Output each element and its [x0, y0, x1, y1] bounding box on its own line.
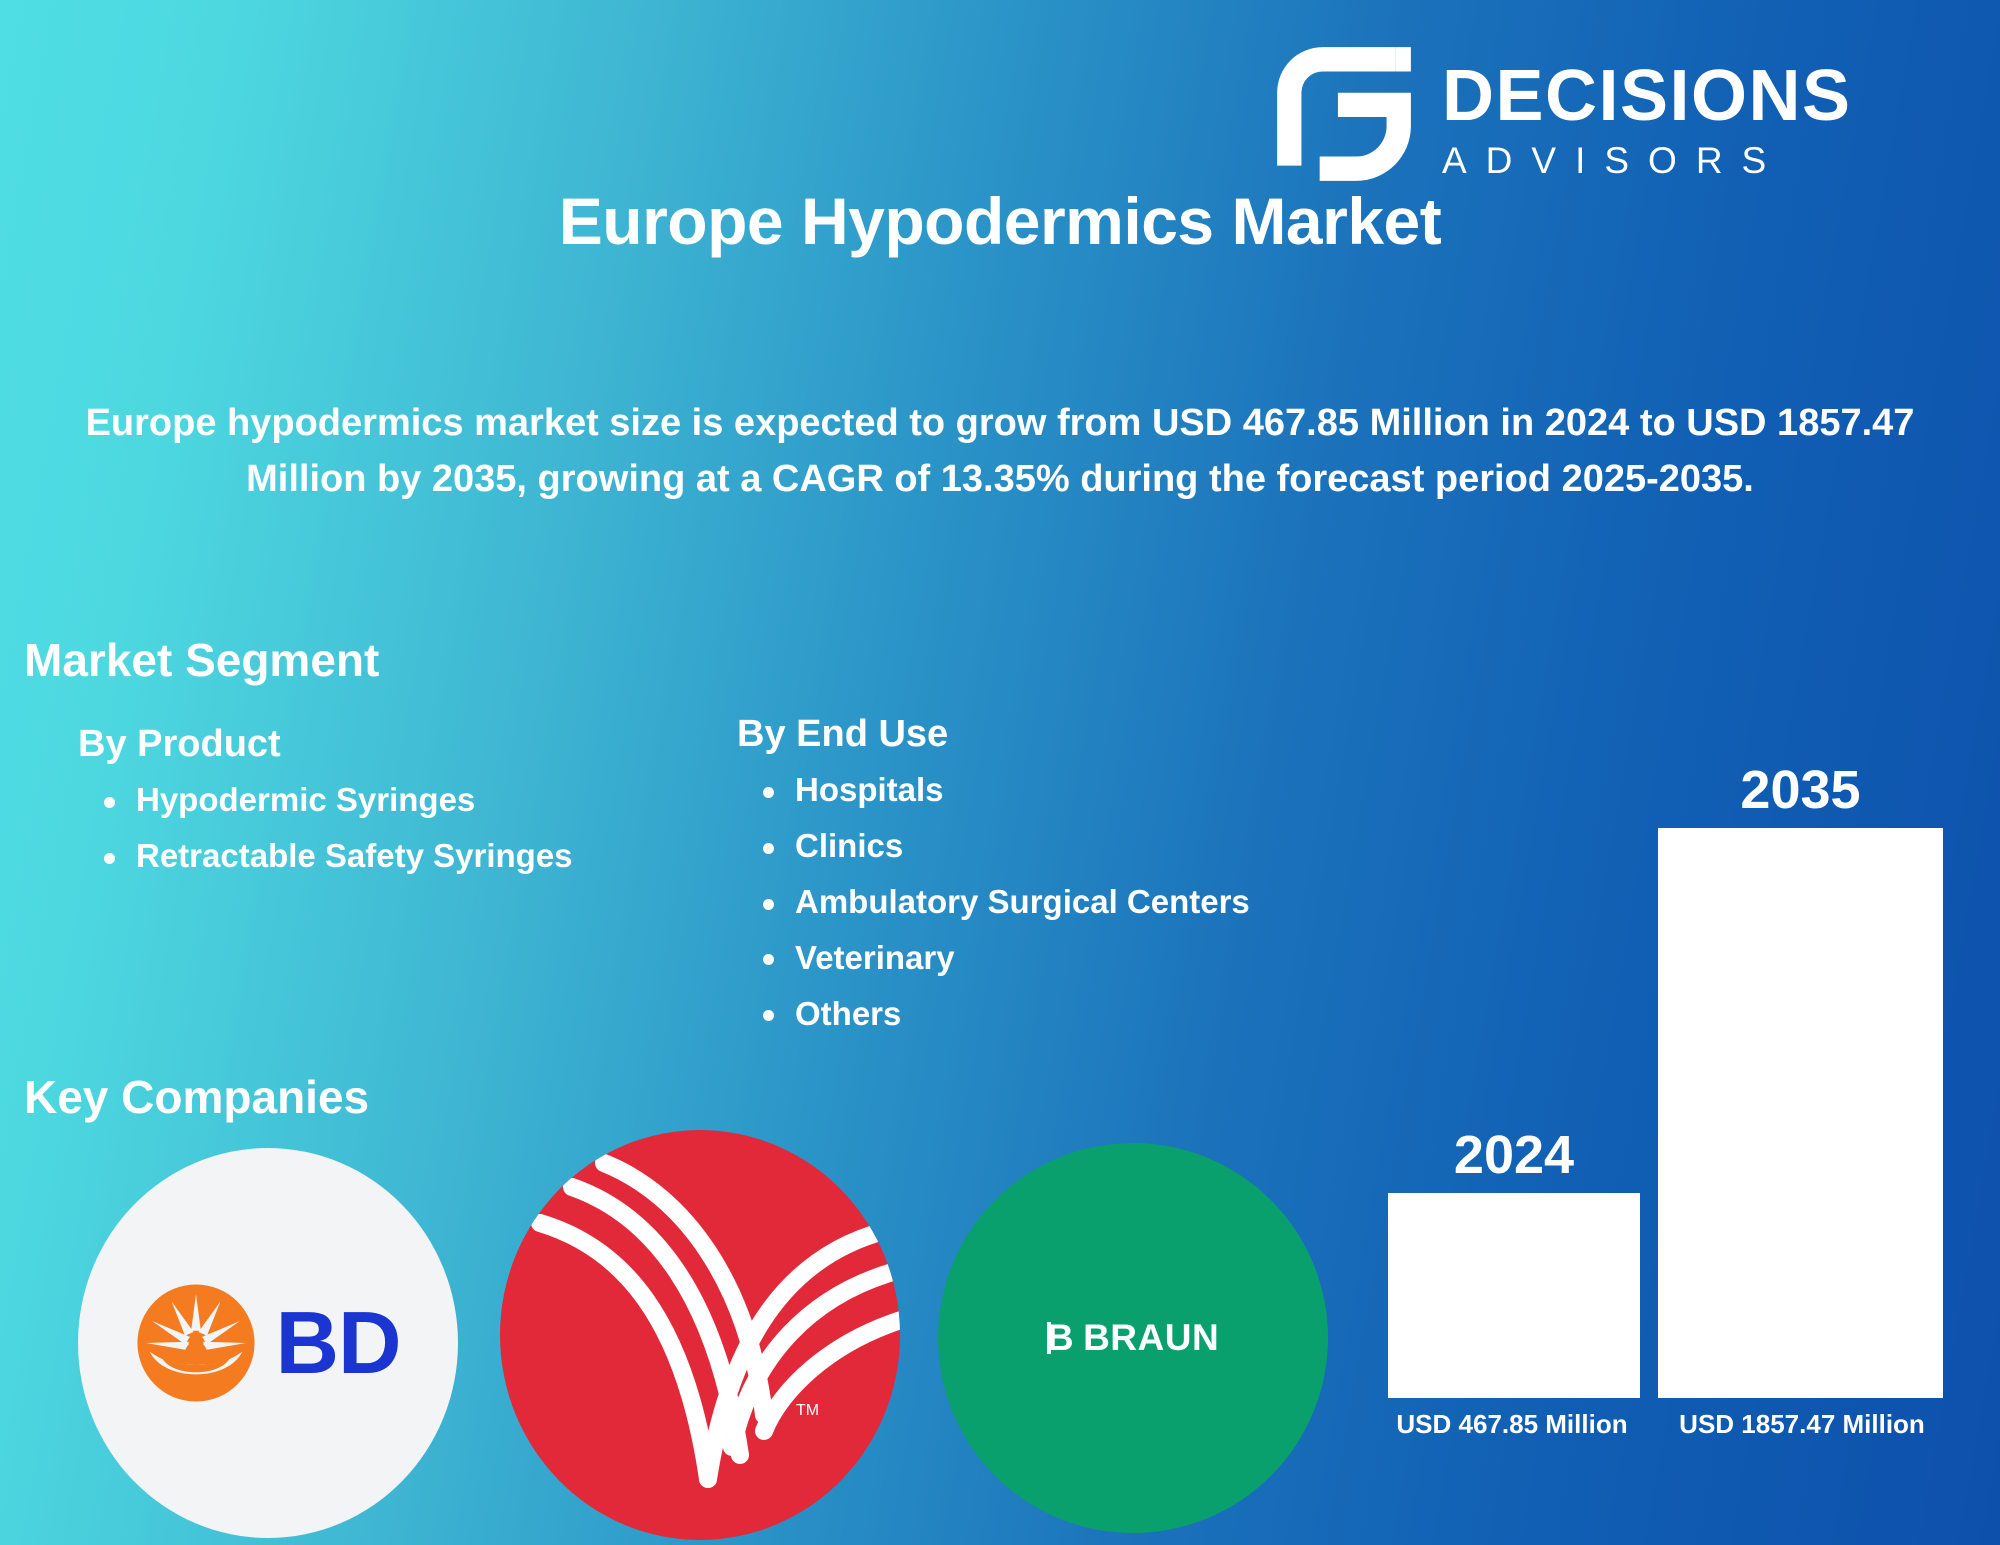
- bar-year-label-2024: 2024: [1388, 1124, 1640, 1186]
- page-title: Europe Hypodermics Market: [0, 183, 2000, 259]
- bar-2024: [1388, 1193, 1640, 1398]
- segment-column-by-product: By Product Hypodermic Syringes Retractab…: [78, 723, 573, 878]
- trademark-symbol: TM: [796, 1402, 819, 1419]
- list-item-label: Ambulatory Surgical Centers: [795, 883, 1250, 920]
- list-item: Hypodermic Syringes: [78, 779, 573, 822]
- segment-list-by-end-use: Hospitals Clinics Ambulatory Surgical Ce…: [737, 769, 1250, 1035]
- list-item-label: Hospitals: [795, 771, 944, 808]
- segment-column-title: By End Use: [737, 713, 1250, 756]
- bbraun-prefix: B: [1047, 1317, 1074, 1359]
- list-item-label: Others: [795, 995, 901, 1032]
- bbraun-wordmark-icon: B BRAUN: [1047, 1317, 1219, 1359]
- market-segment-heading: Market Segment: [24, 633, 379, 687]
- list-item-label: Retractable Safety Syringes: [136, 837, 573, 874]
- bd-sunburst-icon: [135, 1282, 257, 1404]
- list-item: Others: [737, 993, 1250, 1036]
- company-logo-cardinal-health: TM: [500, 1130, 900, 1540]
- segment-list-by-product: Hypodermic Syringes Retractable Safety S…: [78, 779, 573, 878]
- list-item: Ambulatory Surgical Centers: [737, 881, 1250, 924]
- bullet-dot-icon: [104, 797, 115, 808]
- brand-tagline: ADVISORS: [1442, 140, 1852, 182]
- bbraun-name: BRAUN: [1083, 1317, 1219, 1359]
- list-item-label: Veterinary: [795, 939, 955, 976]
- decisions-g-mark-icon: [1268, 38, 1420, 190]
- bd-wordmark: BD: [275, 1299, 400, 1387]
- bar-value-label-2024: USD 467.85 Million: [1362, 1409, 1662, 1440]
- bar-value-label-2035: USD 1857.47 Million: [1648, 1409, 1956, 1440]
- list-item-label: Hypodermic Syringes: [136, 781, 475, 818]
- page-subtitle: Europe hypodermics market size is expect…: [78, 396, 1922, 508]
- bar-year-label-2035: 2035: [1658, 759, 1943, 821]
- list-item-label: Clinics: [795, 827, 903, 864]
- list-item: Retractable Safety Syringes: [78, 835, 573, 878]
- bullet-dot-icon: [763, 954, 774, 965]
- bar-2035: [1658, 828, 1943, 1398]
- segment-column-title: By Product: [78, 723, 573, 766]
- key-companies-heading: Key Companies: [24, 1070, 369, 1124]
- bbraun-divider-icon: [1047, 1322, 1051, 1354]
- bullet-dot-icon: [763, 843, 774, 854]
- bullet-dot-icon: [104, 853, 115, 864]
- bullet-dot-icon: [763, 787, 774, 798]
- brand-name: DECISIONS: [1442, 62, 1852, 130]
- list-item: Clinics: [737, 825, 1250, 868]
- infographic-canvas: DECISIONS ADVISORS Europe Hypodermics Ma…: [0, 0, 2000, 1545]
- bullet-dot-icon: [763, 899, 774, 910]
- list-item: Hospitals: [737, 769, 1250, 812]
- segment-column-by-end-use: By End Use Hospitals Clinics Ambulatory …: [737, 713, 1250, 1035]
- brand-logo: DECISIONS ADVISORS: [1268, 38, 1852, 190]
- bullet-dot-icon: [763, 1010, 774, 1021]
- market-size-bar-chart: 2035 USD 1857.47 Million 2024 USD 467.85…: [1340, 720, 2000, 1510]
- company-logo-b-braun: B BRAUN: [938, 1143, 1328, 1533]
- list-item: Veterinary: [737, 937, 1250, 980]
- company-logo-bd: BD: [78, 1148, 458, 1538]
- cardinal-swoosh-icon: TM: [500, 1130, 900, 1540]
